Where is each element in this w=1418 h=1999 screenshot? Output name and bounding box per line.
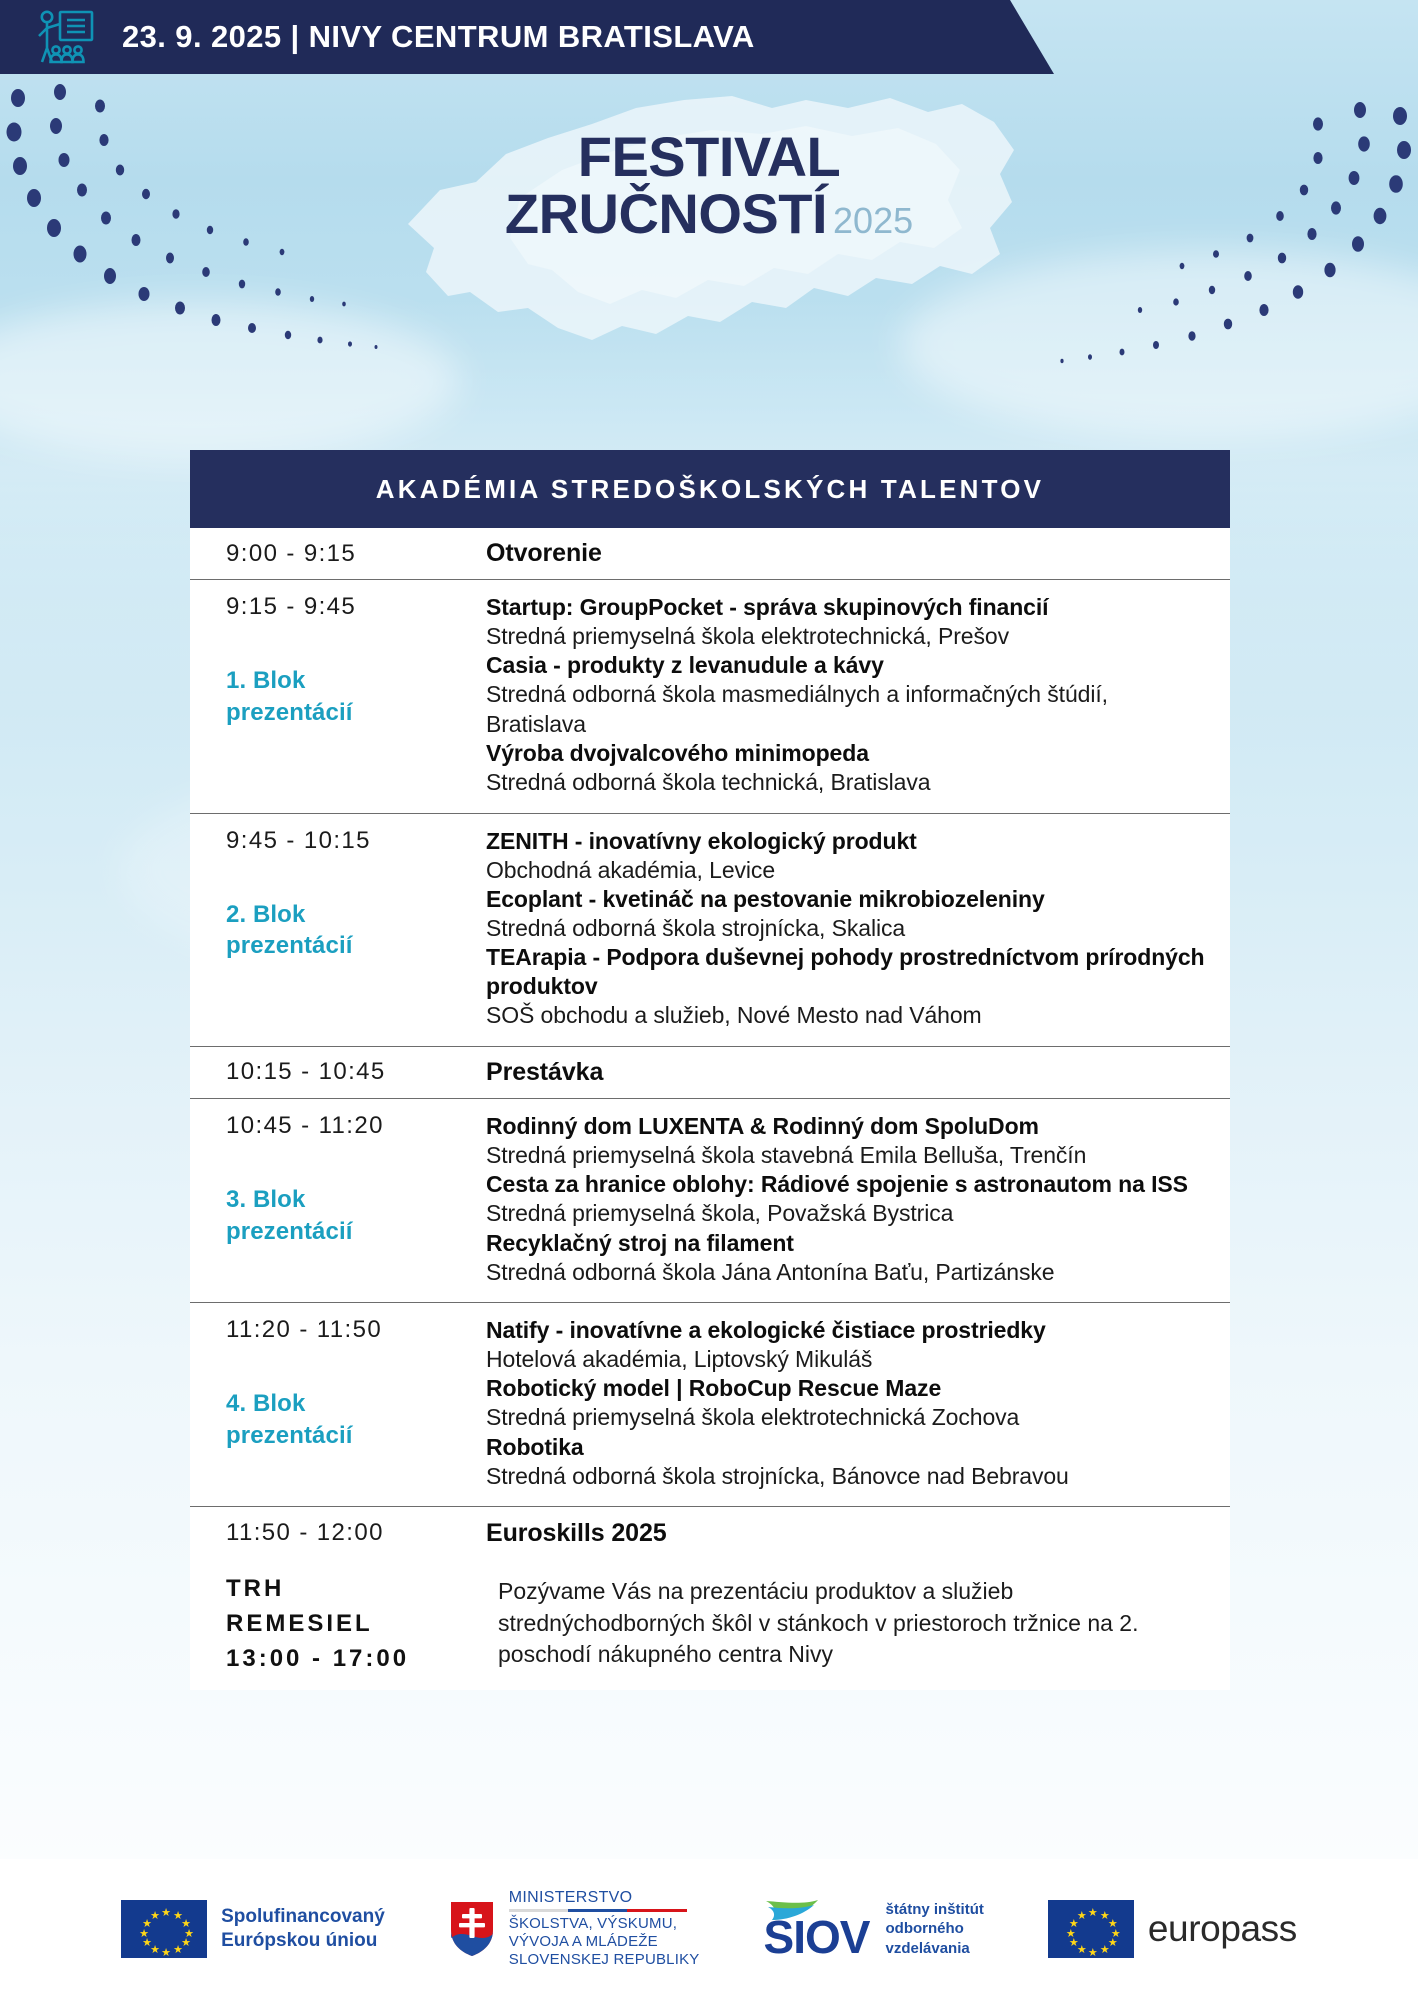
market-content-cell: Pozývame Vás na prezentáciu produktov a … <box>486 1559 1230 1689</box>
entry-school: Stredná odborná škola technická, Bratisl… <box>486 768 1212 797</box>
market-label-line2: REMESIEL <box>226 1607 466 1642</box>
time-cell: 11:50 - 12:00 <box>190 1507 486 1559</box>
content-cell: ZENITH - inovatívny ekologický produktOb… <box>486 814 1230 1046</box>
block-label-line: 3. Blok <box>226 1184 466 1216</box>
time-range: 9:00 - 9:15 <box>226 540 466 568</box>
market-description: Pozývame Vás na prezentáciu produktov a … <box>486 1576 1212 1671</box>
europass-eu-flag-icon: ★ ★ ★ ★ ★ ★ ★ ★ ★ ★ ★ ★ <box>1048 1900 1134 1958</box>
time-range: 9:15 - 9:45 <box>226 593 466 621</box>
entry-title: Ecoplant - kvetináč na pestovanie mikrob… <box>486 885 1212 914</box>
content-cell: Prestávka <box>486 1047 1230 1098</box>
content-cell: Euroskills 2025 <box>486 1507 1230 1559</box>
session-title: Otvorenie <box>486 539 1212 568</box>
table-row: 10:15 - 10:45Prestávka <box>190 1047 1230 1099</box>
block-label: 3. Blokprezentácií <box>226 1184 466 1247</box>
entry-school: Stredná priemyselná škola stavebná Emila… <box>486 1141 1212 1170</box>
block-label-line: 2. Blok <box>226 899 466 931</box>
siov-wordmark: SIOV <box>764 1917 876 1958</box>
entry-title: ZENITH - inovatívny ekologický produkt <box>486 827 1212 856</box>
entry-school: Obchodná akadémia, Levice <box>486 856 1212 885</box>
market-label-time: 13:00 - 17:00 <box>226 1642 466 1677</box>
time-cell: 9:00 - 9:15 <box>190 528 486 579</box>
block-label: 2. Blokprezentácií <box>226 899 466 962</box>
europass-logo: ★ ★ ★ ★ ★ ★ ★ ★ ★ ★ ★ ★ europass <box>1048 1900 1297 1958</box>
header-bar: 23. 9. 2025 | NIVY CENTRUM BRATISLAVA <box>0 0 1010 74</box>
time-range: 10:45 - 11:20 <box>226 1112 466 1140</box>
siov-logo: SIOV štátny inštitút odborného vzdelávan… <box>764 1899 984 1958</box>
content-cell: Rodinný dom LUXENTA & Rodinný dom SpoluD… <box>486 1099 1230 1302</box>
entry-title: TEArapia - Podpora duševnej pohody prost… <box>486 943 1212 1001</box>
entry-school: Hotelová akadémia, Liptovský Mikuláš <box>486 1345 1212 1374</box>
table-row: 11:50 - 12:00Euroskills 2025 <box>190 1507 1230 1559</box>
entry-title: Recyklačný stroj na filament <box>486 1229 1212 1258</box>
session-title: Euroskills 2025 <box>486 1519 1212 1548</box>
ministry-tricolor-rule <box>509 1909 687 1912</box>
table-row: 9:15 - 9:451. BlokprezentáciíStartup: Gr… <box>190 580 1230 814</box>
entry-school: Stredná odborná škola strojnícka, Skalic… <box>486 914 1212 943</box>
entry-school: SOŠ obchodu a služieb, Nové Mesto nad Vá… <box>486 1001 1212 1030</box>
time-cell: 9:45 - 10:152. Blokprezentácií <box>190 814 486 1046</box>
time-cell: 10:15 - 10:45 <box>190 1047 486 1098</box>
content-cell: Startup: GroupPocket - správa skupinovýc… <box>486 580 1230 813</box>
entry-title: Robotika <box>486 1433 1212 1462</box>
time-cell: 9:15 - 9:451. Blokprezentácií <box>190 580 486 813</box>
block-label-line: prezentácií <box>226 1216 466 1248</box>
entry-school: Stredná priemyselná škola, Považská Byst… <box>486 1199 1212 1228</box>
time-cell: 10:45 - 11:203. Blokprezentácií <box>190 1099 486 1302</box>
block-label-line: prezentácií <box>226 697 466 729</box>
entry-title: Casia - produkty z levanudule a kávy <box>486 651 1212 680</box>
entry-title: Rodinný dom LUXENTA & Rodinný dom SpoluD… <box>486 1112 1212 1141</box>
title-zrucnosti: ZRUČNOSTÍ <box>505 185 827 242</box>
ministry-text: MINISTERSTVO ŠKOLSTVA, VÝSKUMU, VÝVOJA A… <box>509 1889 700 1969</box>
entry-school: Stredná odborná škola masmediálnych a in… <box>486 680 1212 739</box>
presenter-board-icon <box>34 8 96 66</box>
table-row: 9:00 - 9:15Otvorenie <box>190 528 1230 580</box>
block-label-line: 4. Blok <box>226 1388 466 1420</box>
entry-school: Stredná odborná škola Jána Antonína Baťu… <box>486 1258 1212 1287</box>
eu-cofunding-logo: ★ ★ ★ ★ ★ ★ ★ ★ ★ ★ ★ ★ Spolufinancovaný… <box>121 1900 385 1958</box>
title-year: 2025 <box>833 203 913 240</box>
entry-title: Startup: GroupPocket - správa skupinovýc… <box>486 593 1212 622</box>
session-title: Prestávka <box>486 1058 1212 1087</box>
time-range: 11:50 - 12:00 <box>226 1519 466 1547</box>
time-range: 11:20 - 11:50 <box>226 1316 466 1344</box>
program-table: AKADÉMIA STREDOŠKOLSKÝCH TALENTOV 9:00 -… <box>190 450 1230 1690</box>
block-label-line: prezentácií <box>226 930 466 962</box>
eu-caption-line2: Európskou úniou <box>221 1929 385 1953</box>
block-label-line: 1. Blok <box>226 665 466 697</box>
siov-caption: štátny inštitút odborného vzdelávania <box>886 1900 984 1959</box>
event-date-venue: 23. 9. 2025 | NIVY CENTRUM BRATISLAVA <box>122 19 755 55</box>
time-range: 9:45 - 10:15 <box>226 827 466 855</box>
eu-caption: Spolufinancovaný Európskou úniou <box>221 1905 385 1953</box>
table-row: 9:45 - 10:152. BlokprezentáciíZENITH - i… <box>190 814 1230 1047</box>
time-range: 10:15 - 10:45 <box>226 1058 466 1086</box>
siov-caption-line3: vzdelávania <box>886 1939 984 1959</box>
europass-wordmark: europass <box>1148 1908 1297 1950</box>
program-header-title: AKADÉMIA STREDOŠKOLSKÝCH TALENTOV <box>376 474 1044 505</box>
entry-school: Stredná priemyselná škola elektrotechnic… <box>486 622 1212 651</box>
eu-flag-icon: ★ ★ ★ ★ ★ ★ ★ ★ ★ ★ ★ ★ <box>121 1900 207 1958</box>
market-time-cell: TRH REMESIEL 13:00 - 17:00 <box>190 1559 486 1689</box>
ministry-line3: VÝVOJA A MLÁDEŽE <box>509 1933 700 1951</box>
entry-school: Stredná odborná škola strojnícka, Bánovc… <box>486 1462 1212 1491</box>
content-cell: Natify - inovatívne a ekologické čistiac… <box>486 1303 1230 1506</box>
title-festival: FESTIVAL <box>0 128 1418 185</box>
ministry-logo: MINISTERSTVO ŠKOLSTVA, VÝSKUMU, VÝVOJA A… <box>449 1889 700 1969</box>
ministry-line4: SLOVENSKEJ REPUBLIKY <box>509 1951 700 1969</box>
table-row-market: TRH REMESIEL 13:00 - 17:00 Pozývame Vás … <box>190 1559 1230 1689</box>
ministry-line2: ŠKOLSTVA, VÝSKUMU, <box>509 1915 700 1933</box>
block-label-line: prezentácií <box>226 1420 466 1452</box>
time-cell: 11:20 - 11:504. Blokprezentácií <box>190 1303 486 1506</box>
content-cell: Otvorenie <box>486 528 1230 579</box>
entry-title: Robotický model | RoboCup Rescue Maze <box>486 1374 1212 1403</box>
entry-title: Výroba dvojvalcového minimopeda <box>486 739 1212 768</box>
entry-title: Cesta za hranice oblohy: Rádiové spojeni… <box>486 1170 1212 1199</box>
poster-title: FESTIVAL ZRUČNOSTÍ 2025 <box>0 128 1418 242</box>
program-rows: 9:00 - 9:15Otvorenie9:15 - 9:451. Blokpr… <box>190 528 1230 1559</box>
slovak-coat-of-arms-icon <box>449 1900 495 1958</box>
footer-logos: ★ ★ ★ ★ ★ ★ ★ ★ ★ ★ ★ ★ Spolufinancovaný… <box>0 1859 1418 1999</box>
table-row: 10:45 - 11:203. BlokprezentáciíRodinný d… <box>190 1099 1230 1303</box>
program-table-header: AKADÉMIA STREDOŠKOLSKÝCH TALENTOV <box>190 450 1230 528</box>
ministry-line1: MINISTERSTVO <box>509 1889 700 1907</box>
siov-caption-line2: odborného <box>886 1919 984 1939</box>
market-label-line1: TRH <box>226 1572 466 1607</box>
block-label: 1. Blokprezentácií <box>226 665 466 728</box>
block-label: 4. Blokprezentácií <box>226 1388 466 1451</box>
entry-title: Natify - inovatívne a ekologické čistiac… <box>486 1316 1212 1345</box>
table-row: 11:20 - 11:504. BlokprezentáciíNatify - … <box>190 1303 1230 1507</box>
eu-caption-line1: Spolufinancovaný <box>221 1905 385 1929</box>
entry-school: Stredná priemyselná škola elektrotechnic… <box>486 1403 1212 1432</box>
siov-caption-line1: štátny inštitút <box>886 1900 984 1920</box>
